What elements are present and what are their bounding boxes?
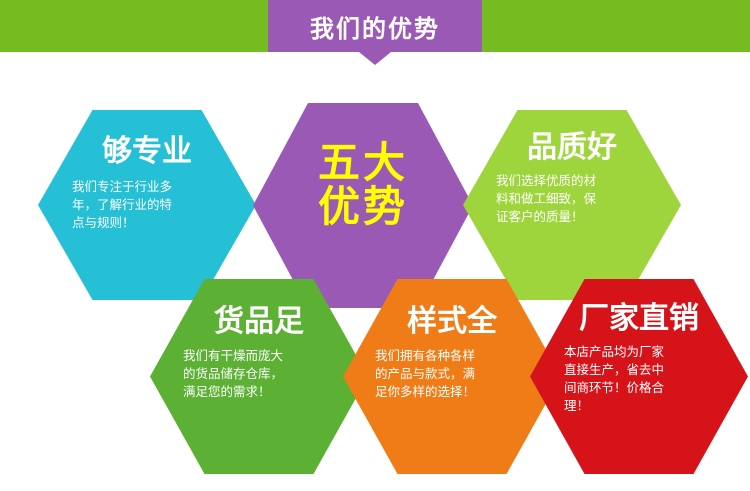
hex-body-stock: 我们有干燥而庞大 的货品储存仓库， 满足您的需求！ — [183, 347, 335, 401]
hex-card-quality: 品质好 我们选择优质的材 料和做工细致，保 证客户的质量！ — [463, 110, 681, 300]
hex-title-style: 样式全 — [407, 306, 497, 338]
hex-card-stock: 货品足 我们有干燥而庞大 的货品储存仓库， 满足您的需求！ — [150, 279, 368, 474]
hex-title-stock: 货品足 — [214, 306, 304, 338]
header-banner: 我们的优势 — [0, 0, 750, 52]
hex-title-quality: 品质好 — [527, 132, 617, 164]
hex-body-quality: 我们选择优质的材 料和做工细致，保 证客户的质量！ — [496, 172, 648, 226]
page-title: 我们的优势 — [268, 0, 482, 52]
hex-body-factory: 本店产品均为厂家 直接生产，省去中 间商环节！价格合 理！ — [564, 343, 714, 416]
header-bar-right — [482, 0, 750, 52]
hex-title-center: 五大 优势 — [318, 141, 408, 229]
hex-title-professional: 够专业 — [102, 136, 192, 168]
hex-title-factory: 厂家直销 — [579, 303, 699, 335]
hex-body-style: 我们拥有各种各样 的产品与款式，满 足你多样的选择！ — [375, 347, 529, 401]
hex-card-center: 五大 优势 — [253, 103, 473, 308]
hex-card-style: 样式全 我们拥有各种各样 的产品与款式，满 足你多样的选择！ — [343, 279, 561, 474]
header-bar-left — [0, 0, 268, 52]
hex-card-professional: 够专业 我们专注于行业多 年，了解行业的特 点与规则！ — [38, 110, 256, 300]
hex-card-factory: 厂家直销 本店产品均为厂家 直接生产，省去中 间商环节！价格合 理！ — [530, 279, 748, 474]
hex-body-professional: 我们专注于行业多 年，了解行业的特 点与规则！ — [72, 178, 222, 232]
